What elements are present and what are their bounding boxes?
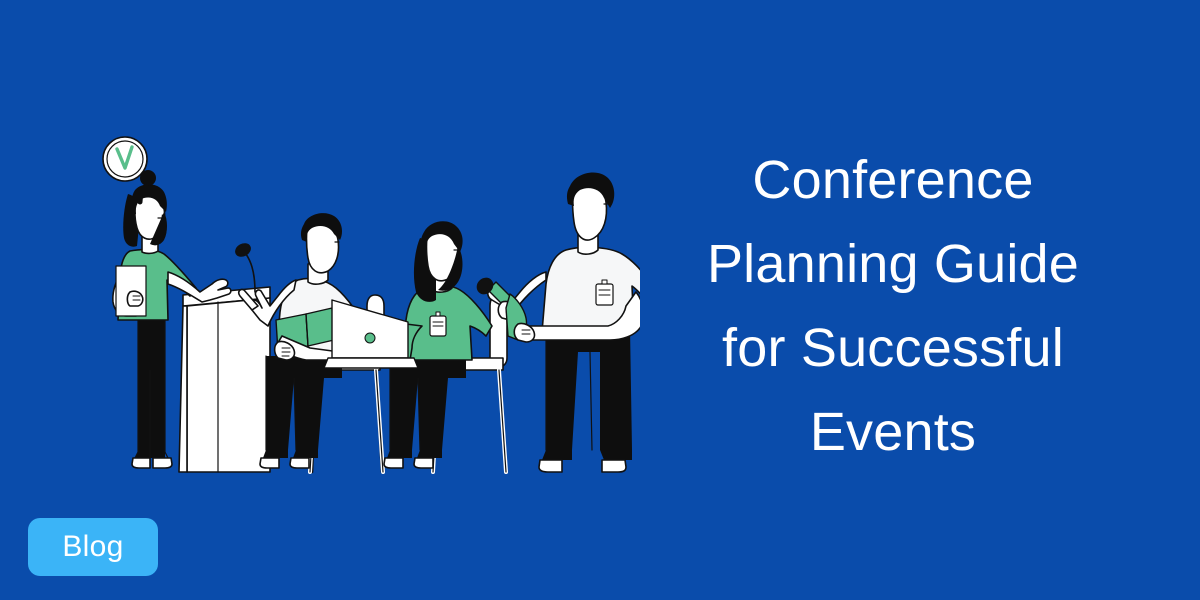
wall-clock-icon [103,137,147,181]
podium-microphone-icon [234,242,255,292]
blog-badge[interactable]: Blog [28,518,158,576]
conference-scene-illustration [80,120,640,490]
seated-woman-with-laptop-figure [324,221,492,468]
page-title: Conference Planning Guide for Successful… [640,138,1146,474]
blog-hero-banner: Conference Planning Guide for Successful… [0,0,1200,600]
blog-badge-label: Blog [62,530,123,564]
